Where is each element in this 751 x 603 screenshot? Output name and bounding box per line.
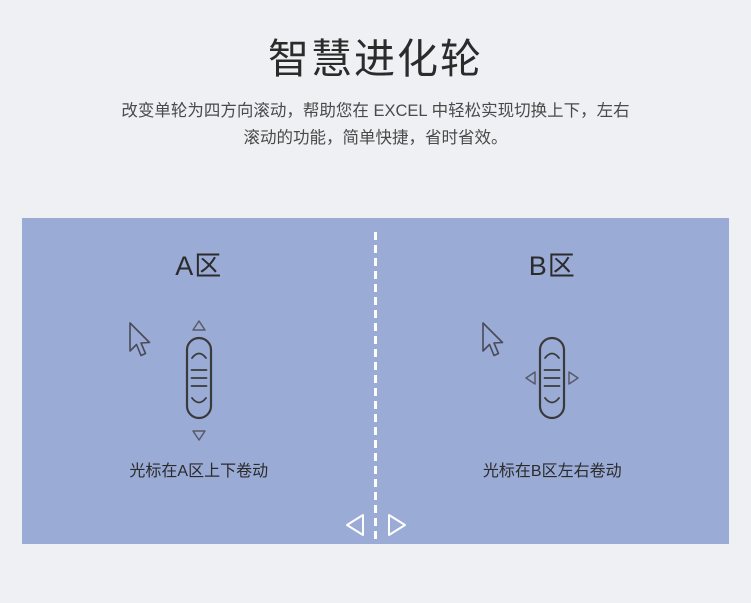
subtitle-line-2: 滚动的功能，简单快捷，省时省效。: [46, 125, 706, 152]
up-triangle-icon: [193, 321, 205, 330]
scroll-wheel-icon: [523, 316, 581, 446]
right-triangle-icon: [384, 510, 408, 540]
panel-divider: [374, 232, 377, 544]
zone-a-caption: 光标在A区上下卷动: [22, 461, 376, 483]
zone-b-caption: 光标在B区左右卷动: [376, 461, 730, 483]
zone-a-panel: A区: [22, 218, 376, 544]
left-triangle-icon: [344, 510, 368, 540]
page-subtitle: 改变单轮为四方向滚动，帮助您在 EXCEL 中轻松实现切换上下，左右 滚动的功能…: [46, 98, 706, 152]
mouse-cursor-icon: [126, 320, 154, 360]
divider-arrows: [344, 508, 408, 542]
down-triangle-icon: [193, 431, 205, 440]
demo-panel: A区: [22, 218, 729, 544]
page-title: 智慧进化轮: [0, 34, 751, 84]
left-triangle-icon: [526, 372, 535, 384]
zone-a-title: A区: [22, 250, 376, 282]
scroll-wheel-icon: [170, 316, 228, 446]
zone-b-device-group: [376, 316, 730, 446]
zone-b-panel: B区: [376, 218, 730, 544]
zone-a-device-group: [22, 316, 376, 446]
subtitle-line-1: 改变单轮为四方向滚动，帮助您在 EXCEL 中轻松实现切换上下，左右: [46, 98, 706, 125]
page-header: 智慧进化轮 改变单轮为四方向滚动，帮助您在 EXCEL 中轻松实现切换上下，左右…: [0, 0, 751, 152]
mouse-cursor-icon: [479, 320, 507, 360]
zone-b-title: B区: [376, 250, 730, 282]
right-triangle-icon: [569, 372, 578, 384]
